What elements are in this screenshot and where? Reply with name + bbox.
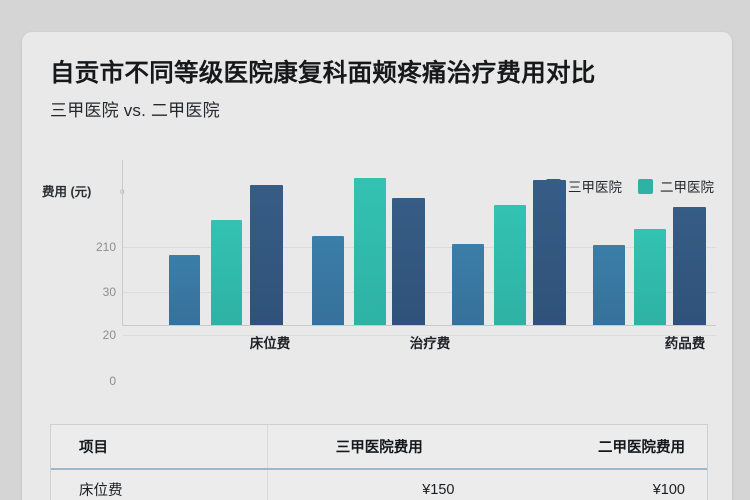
column-header-secondary: 二甲医院费用	[491, 425, 708, 469]
screenshot-root: 自贡市不同等级医院康复科面颊疼痛治疗费用对比 三甲医院 vs. 二甲医院 费用 …	[0, 0, 750, 500]
table-header-row: 项目 三甲医院费用 二甲医院费用	[51, 425, 707, 469]
y-axis-ticks: 21030200	[54, 150, 116, 400]
bar-10[interactable]	[634, 229, 666, 325]
cell-tertiary-cost: ¥150	[267, 469, 490, 500]
table-row[interactable]: 床位费¥150¥100	[51, 469, 707, 500]
bar-3[interactable]	[312, 236, 344, 325]
category-label-0: 床位费	[250, 332, 291, 352]
page-subtitle: 三甲医院 vs. 二甲医院	[50, 96, 710, 121]
content-card: 自贡市不同等级医院康复科面颊疼痛治疗费用对比 三甲医院 vs. 二甲医院 费用 …	[22, 32, 732, 500]
bar-0[interactable]	[169, 255, 200, 325]
cell-item: 床位费	[51, 469, 267, 500]
category-label-1: 治疗费	[410, 332, 451, 352]
page-title: 自贡市不同等级医院康复科面颊疼痛治疗费用对比	[50, 60, 710, 87]
y-tick-label: 30	[60, 285, 116, 299]
bar-2[interactable]	[250, 185, 283, 325]
y-tick-label: 20	[60, 328, 116, 342]
y-tick-label: 0	[60, 374, 116, 388]
bar-4[interactable]	[354, 178, 386, 325]
bar-8[interactable]	[533, 180, 566, 325]
bar-9[interactable]	[593, 245, 625, 325]
bar-1[interactable]	[211, 220, 242, 325]
category-label-2: 药品费	[665, 332, 706, 352]
plot-area	[122, 160, 716, 326]
table-body: 床位费¥150¥100治疗费¥500¥350	[51, 469, 707, 500]
heading-block: 自贡市不同等级医院康复科面颊疼痛治疗费用对比 三甲医院 vs. 二甲医院	[50, 60, 710, 121]
bar-11[interactable]	[673, 207, 706, 325]
bar-7[interactable]	[494, 205, 526, 325]
column-header-item: 项目	[51, 425, 267, 469]
y-tick-label: 210	[60, 240, 116, 254]
bar-chart: 费用 (元) o 三甲医院 二甲医院 21030200 床位费治疗费药品费	[22, 150, 732, 400]
cell-secondary-cost: ¥100	[491, 469, 708, 500]
bar-5[interactable]	[392, 198, 425, 325]
column-header-tertiary: 三甲医院费用	[267, 425, 490, 469]
bar-6[interactable]	[452, 244, 484, 325]
cost-table: 项目 三甲医院费用 二甲医院费用 床位费¥150¥100治疗费¥500¥350	[50, 424, 708, 500]
